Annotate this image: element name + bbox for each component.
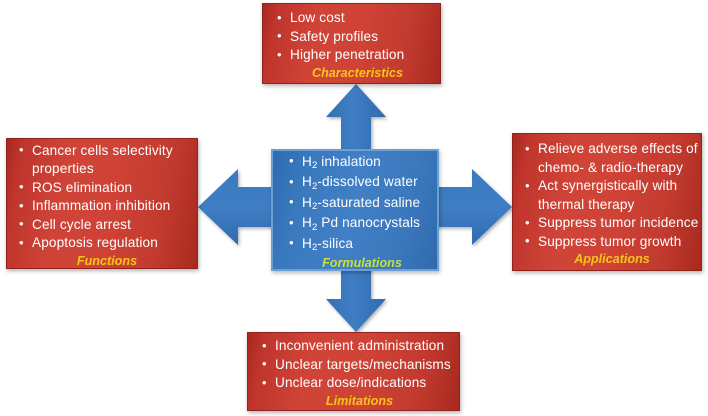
arrow-up-icon [326,84,386,156]
arrow-down-icon [326,264,386,332]
formulations-category-label: Formulations [287,256,437,271]
list-item: Higher penetration [275,46,440,65]
list-item: Safety profiles [275,28,440,47]
formulations-list: H2 inhalation H2-dissolved water H2-satu… [287,153,437,256]
applications-list: Relieve adverse effects of chemo- & radi… [523,140,701,251]
list-item: Inconvenient administration [260,337,459,356]
list-item: Cancer cells selectivity properties [17,142,197,179]
list-item: Apoptosis regulation [17,234,197,253]
list-item: H2 inhalation [287,153,437,174]
list-item: Low cost [275,9,440,28]
list-item: Inflammation inhibition [17,197,197,216]
functions-list: Cancer cells selectivity properties ROS … [17,142,197,253]
limitations-box: Inconvenient administration Unclear targ… [247,332,460,411]
applications-box: Relieve adverse effects of chemo- & radi… [512,133,702,271]
limitations-list: Inconvenient administration Unclear targ… [260,337,459,393]
characteristics-box: Low cost Safety profiles Higher penetrat… [262,3,441,84]
list-item: Unclear targets/mechanisms [260,356,459,375]
list-item: H2-silica [287,235,437,256]
list-item: Unclear dose/indications [260,374,459,393]
characteristics-category-label: Characteristics [275,66,440,81]
list-item: ROS elimination [17,179,197,198]
list-item: H2 Pd nanocrystals [287,214,437,235]
formulations-box: H2 inhalation H2-dissolved water H2-satu… [271,149,439,271]
arrow-left-icon [198,169,281,245]
list-item: Suppress tumor incidence [523,214,701,233]
applications-category-label: Applications [523,252,701,267]
functions-category-label: Functions [17,254,197,269]
list-item: Suppress tumor growth [523,233,701,252]
diagram-canvas: Low cost Safety profiles Higher penetrat… [0,0,708,416]
arrow-right-icon [429,169,512,245]
list-item: Cell cycle arrest [17,216,197,235]
list-item: H2-saturated saline [287,194,437,215]
list-item: Relieve adverse effects of chemo- & radi… [523,140,701,177]
list-item: H2-dissolved water [287,173,437,194]
functions-box: Cancer cells selectivity properties ROS … [6,138,198,269]
list-item: Act synergistically with thermal therapy [523,177,701,214]
limitations-category-label: Limitations [260,394,459,409]
characteristics-list: Low cost Safety profiles Higher penetrat… [275,9,440,65]
